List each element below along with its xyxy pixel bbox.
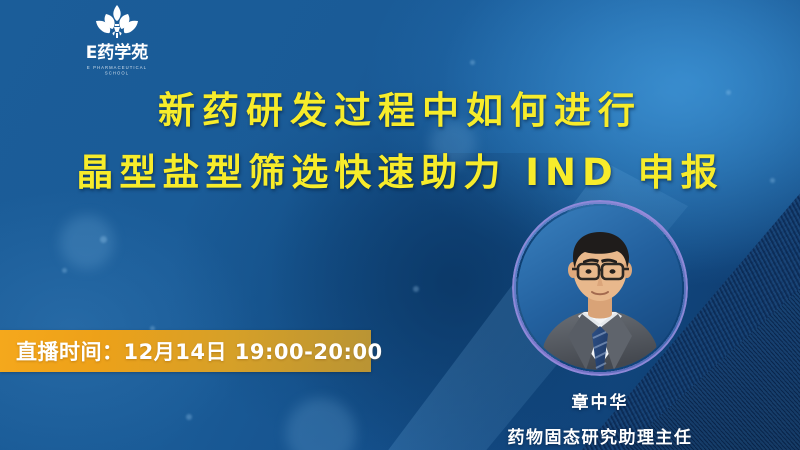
bokeh-dot <box>413 286 419 292</box>
bokeh-dot <box>470 60 475 65</box>
logo-chinese-text: E药学苑 <box>74 45 160 63</box>
headline-line-2: 晶型盐型筛选快速助力 IND 申报 <box>0 142 800 204</box>
logo-english-text: E PHARMACEUTICAL SCHOOL <box>74 64 160 76</box>
avatar-ring <box>512 200 688 376</box>
brand-logo: E药学苑 E PHARMACEUTICAL SCHOOL <box>74 2 160 75</box>
speaker-avatar <box>512 200 688 376</box>
speaker-role: 药物固态研究助理主任 <box>505 423 695 448</box>
broadcast-time-text: 直播时间：12月14日 19:00-20:00 <box>0 336 383 366</box>
speaker-block: 章中华 药物固态研究助理主任 <box>505 200 695 448</box>
bokeh-dot <box>62 268 67 273</box>
lotus-flower-icon <box>89 4 145 44</box>
speaker-name: 章中华 <box>505 388 695 413</box>
bokeh-dot <box>100 236 107 243</box>
bokeh-dot <box>186 414 192 420</box>
broadcast-time-banner: 直播时间：12月14日 19:00-20:00 <box>0 330 371 372</box>
webinar-poster: E药学苑 E PHARMACEUTICAL SCHOOL 新药研发过程中如何进行… <box>0 0 800 450</box>
headline-line-1: 新药研发过程中如何进行 <box>0 80 800 142</box>
background-glow-left <box>0 189 256 450</box>
page-title: 新药研发过程中如何进行 晶型盐型筛选快速助力 IND 申报 <box>0 80 800 204</box>
